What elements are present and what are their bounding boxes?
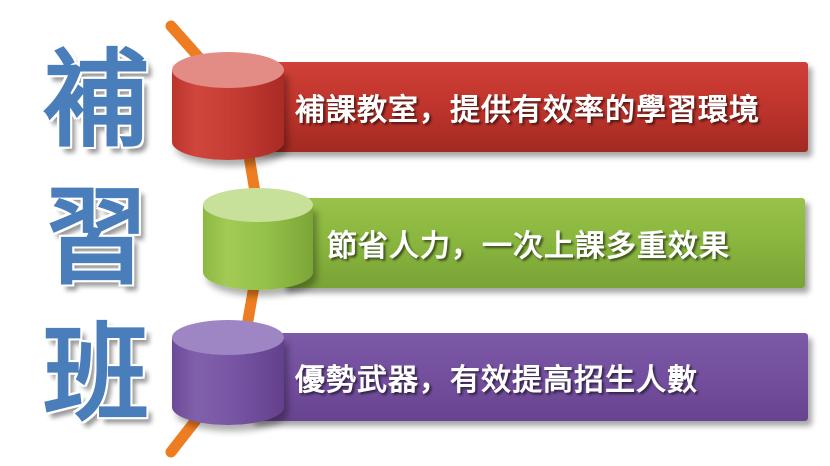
banner-label-red: 補課教室，提供有效率的學習環境	[295, 85, 760, 129]
banner-bar-purple[interactable]: 優勢武器，有效提高招生人數	[250, 333, 808, 421]
banner-label-purple: 優勢武器，有效提高招生人數	[295, 355, 698, 399]
cylinder-red[interactable]	[172, 52, 284, 160]
cylinder-purple[interactable]	[172, 320, 284, 425]
banner-label-green: 節省人力，一次上課多重效果	[327, 221, 730, 265]
cylinder-top-green	[203, 188, 313, 222]
cylinder-top-purple	[172, 320, 284, 355]
cylinder-green[interactable]	[203, 188, 313, 290]
cylinder-top-red	[172, 52, 284, 88]
slide-canvas: 補 習 班 補課教室，提供有效率的學習環境 節省人力，一次上課多重效果	[0, 0, 830, 466]
banner-bar-green[interactable]: 節省人力，一次上課多重效果	[282, 198, 805, 288]
banner-bar-red[interactable]: 補課教室，提供有效率的學習環境	[250, 62, 808, 152]
